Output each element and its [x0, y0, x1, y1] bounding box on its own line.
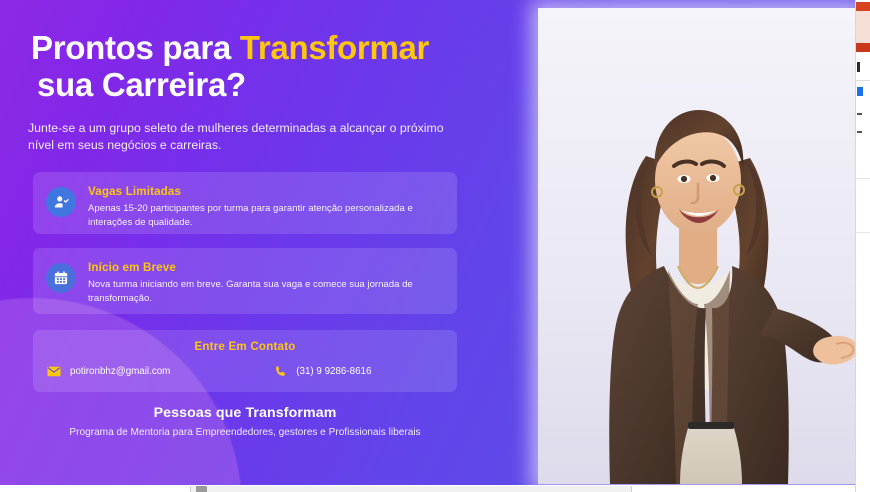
brand-footer: Pessoas que Transformam Programa de Ment…: [0, 405, 490, 438]
feature-card-text: Nova turma iniciando em breve. Garanta s…: [88, 278, 443, 305]
feature-card-body: Vagas Limitadas Apenas 15-20 participant…: [88, 184, 443, 229]
edge-divider-1: [856, 80, 870, 81]
edge-divider-2: [856, 178, 870, 179]
subheadline: Junte-se a um grupo seleto de mulheres d…: [28, 120, 452, 155]
headline-line2: sua Carreira?: [31, 67, 461, 104]
bottom-right-chrome: [855, 485, 870, 492]
feature-card-body: Início em Breve Nova turma iniciando em …: [88, 260, 443, 305]
feature-card-vagas-limitadas: Vagas Limitadas Apenas 15-20 participant…: [33, 172, 457, 234]
contact-phone[interactable]: (31) 9 9286-8616: [235, 364, 447, 378]
speaker-photo-panel: [538, 8, 856, 484]
speaker-portrait-photo: [538, 8, 856, 484]
contact-title: Entre Em Contato: [33, 340, 457, 353]
edge-link-text[interactable]: [857, 87, 863, 95]
tab-favicon-sliver: [196, 486, 207, 492]
edge-banner-red: [856, 2, 870, 11]
user-check-icon: [46, 187, 76, 217]
phone-icon: [273, 364, 287, 378]
edge-banner-red-2: [856, 43, 870, 52]
feature-card-title: Início em Breve: [88, 261, 443, 274]
browser-tab-sliver[interactable]: [190, 486, 632, 492]
edge-text-dark: [857, 62, 860, 72]
contact-phone-value: (31) 9 9286-8616: [296, 366, 371, 377]
slide-left-content: Prontos para Transformar sua Carreira? J…: [0, 0, 500, 492]
background-window-edge[interactable]: [855, 0, 870, 492]
brand-name: Pessoas que Transformam: [0, 405, 490, 421]
envelope-icon: [47, 364, 61, 378]
calendar-icon: [46, 263, 76, 293]
edge-text-line-1: [857, 113, 862, 115]
brand-tagline: Programa de Mentoria para Empreendedores…: [0, 427, 490, 438]
bottom-chrome-strip[interactable]: [0, 485, 870, 492]
contact-email[interactable]: potironbhz@gmail.com: [43, 364, 235, 378]
headline-part1: Prontos para: [31, 29, 231, 66]
edge-divider-3: [856, 232, 870, 233]
contact-panel: Entre Em Contato potironbhz@gmail.com: [33, 330, 457, 392]
feature-card-title: Vagas Limitadas: [88, 185, 443, 198]
edge-text-line-2: [857, 131, 862, 133]
presentation-slide: Prontos para Transformar sua Carreira? J…: [0, 0, 870, 492]
feature-card-text: Apenas 15-20 participantes por turma par…: [88, 202, 443, 229]
contact-email-value: potironbhz@gmail.com: [70, 366, 170, 377]
page-title: Prontos para Transformar sua Carreira?: [31, 30, 461, 104]
edge-banner-pink: [856, 11, 870, 43]
headline-accent: Transformar: [240, 29, 429, 66]
feature-card-inicio-em-breve: Início em Breve Nova turma iniciando em …: [33, 248, 457, 314]
edge-link-underline: [857, 95, 863, 96]
contact-rows: potironbhz@gmail.com (31) 9 9286-8616: [33, 364, 457, 378]
